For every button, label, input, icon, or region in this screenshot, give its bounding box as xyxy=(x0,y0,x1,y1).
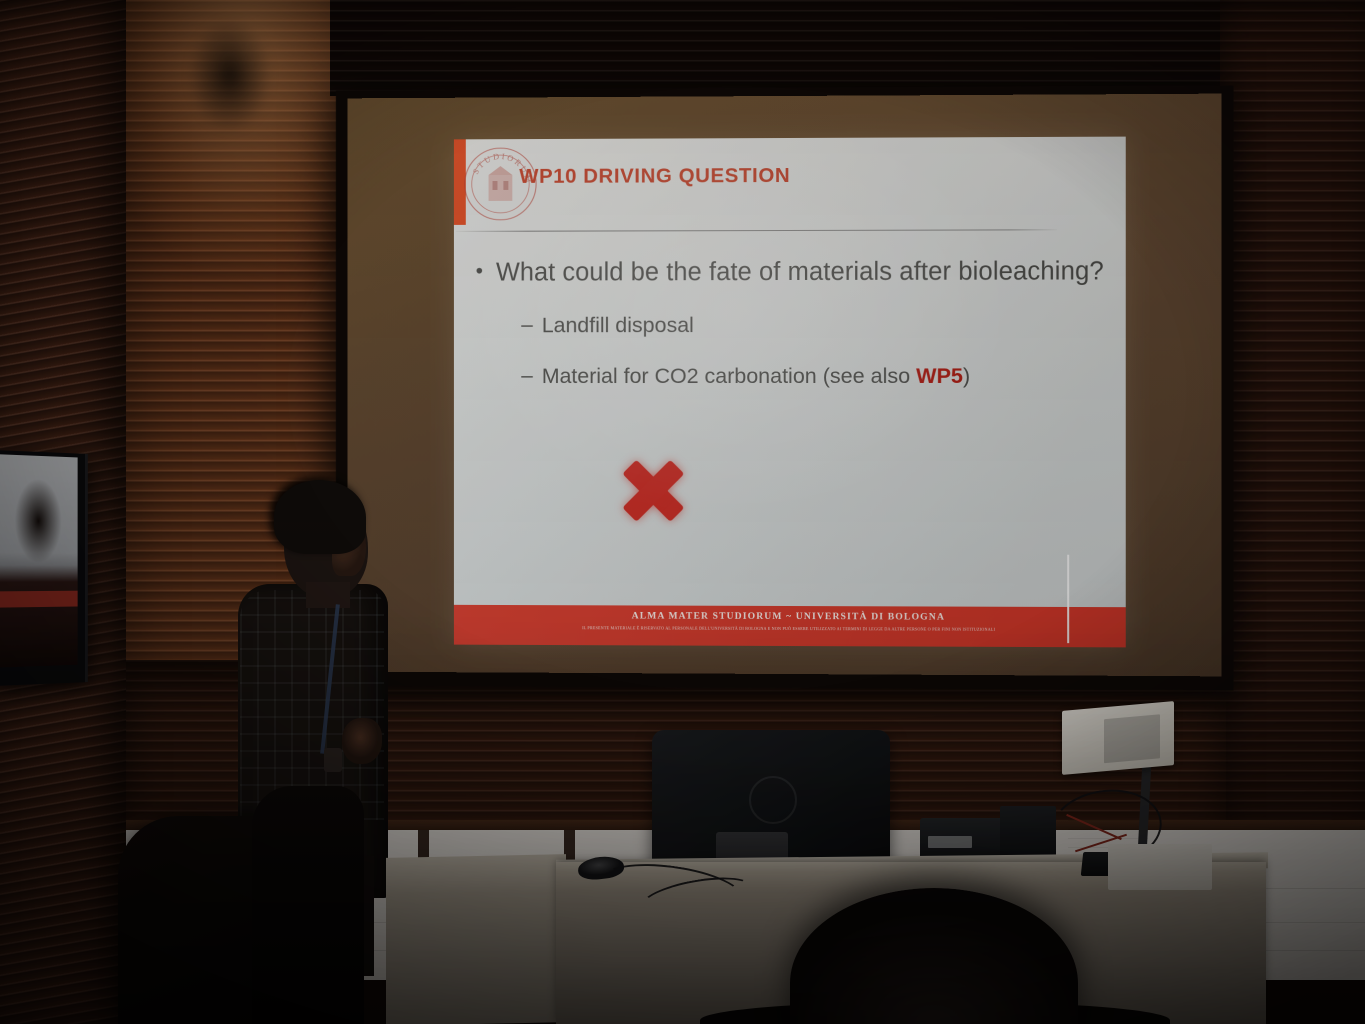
foreground-silhouette xyxy=(252,786,364,1024)
slide-footer: ALMA MATER STUDIORUM ~ UNIVERSITÀ DI BOL… xyxy=(454,605,1126,648)
carbonation-text-after: ) xyxy=(963,364,970,388)
presenter-hair xyxy=(274,480,366,554)
document-stand-plate xyxy=(1062,701,1174,775)
confidence-monitor xyxy=(0,450,88,686)
lecture-hall-scene: STUDIORUM WP10 DRIVING QUESTION • What c… xyxy=(0,0,1365,1024)
slide-body: • What could be the fate of materials af… xyxy=(476,255,1114,391)
bullet-text-landfill: Landfill disposal xyxy=(542,311,694,340)
desk-side-panel xyxy=(386,854,566,1024)
document-stand-shade xyxy=(1104,714,1160,763)
presenter-badge xyxy=(324,748,342,772)
presentation-slide: STUDIORUM WP10 DRIVING QUESTION • What c… xyxy=(454,137,1126,648)
bullet-text: What could be the fate of materials afte… xyxy=(496,255,1104,289)
slide-title-rule xyxy=(456,229,1057,232)
monitor-logo-icon xyxy=(749,776,797,824)
dash-marker: – xyxy=(521,311,533,340)
footer-organisation: ALMA MATER STUDIORUM ~ UNIVERSITÀ DI BOL… xyxy=(454,610,1126,623)
bullet-item-carbonation: – Material for CO2 carbonation (see also… xyxy=(521,362,1113,391)
confidence-monitor-silhouette xyxy=(7,469,66,621)
equipment-box-label xyxy=(928,836,972,848)
wall-above-screen xyxy=(330,0,1220,96)
bullet-marker: • xyxy=(476,257,483,290)
bullet-item-primary: • What could be the fate of materials af… xyxy=(476,255,1114,289)
carbonation-text-before: Material for CO2 carbonation (see also xyxy=(542,364,916,388)
presenter-neck xyxy=(306,582,350,608)
dash-marker: – xyxy=(521,362,533,391)
footer-disclaimer: IL PRESENTE MATERIALE È RISERVATO AL PER… xyxy=(509,626,1069,633)
red-x-strikeout-icon xyxy=(615,452,693,530)
bullet-item-landfill: – Landfill disposal xyxy=(521,311,1113,341)
slide-title: WP10 DRIVING QUESTION xyxy=(519,163,1107,189)
presenter-hand xyxy=(342,718,382,764)
projector-sheen xyxy=(454,137,1126,648)
wp5-reference: WP5 xyxy=(916,364,963,388)
bullet-text-carbonation: Material for CO2 carbonation (see also W… xyxy=(542,362,970,391)
white-equipment-box xyxy=(1108,844,1212,890)
lamp-shadow xyxy=(170,0,290,160)
